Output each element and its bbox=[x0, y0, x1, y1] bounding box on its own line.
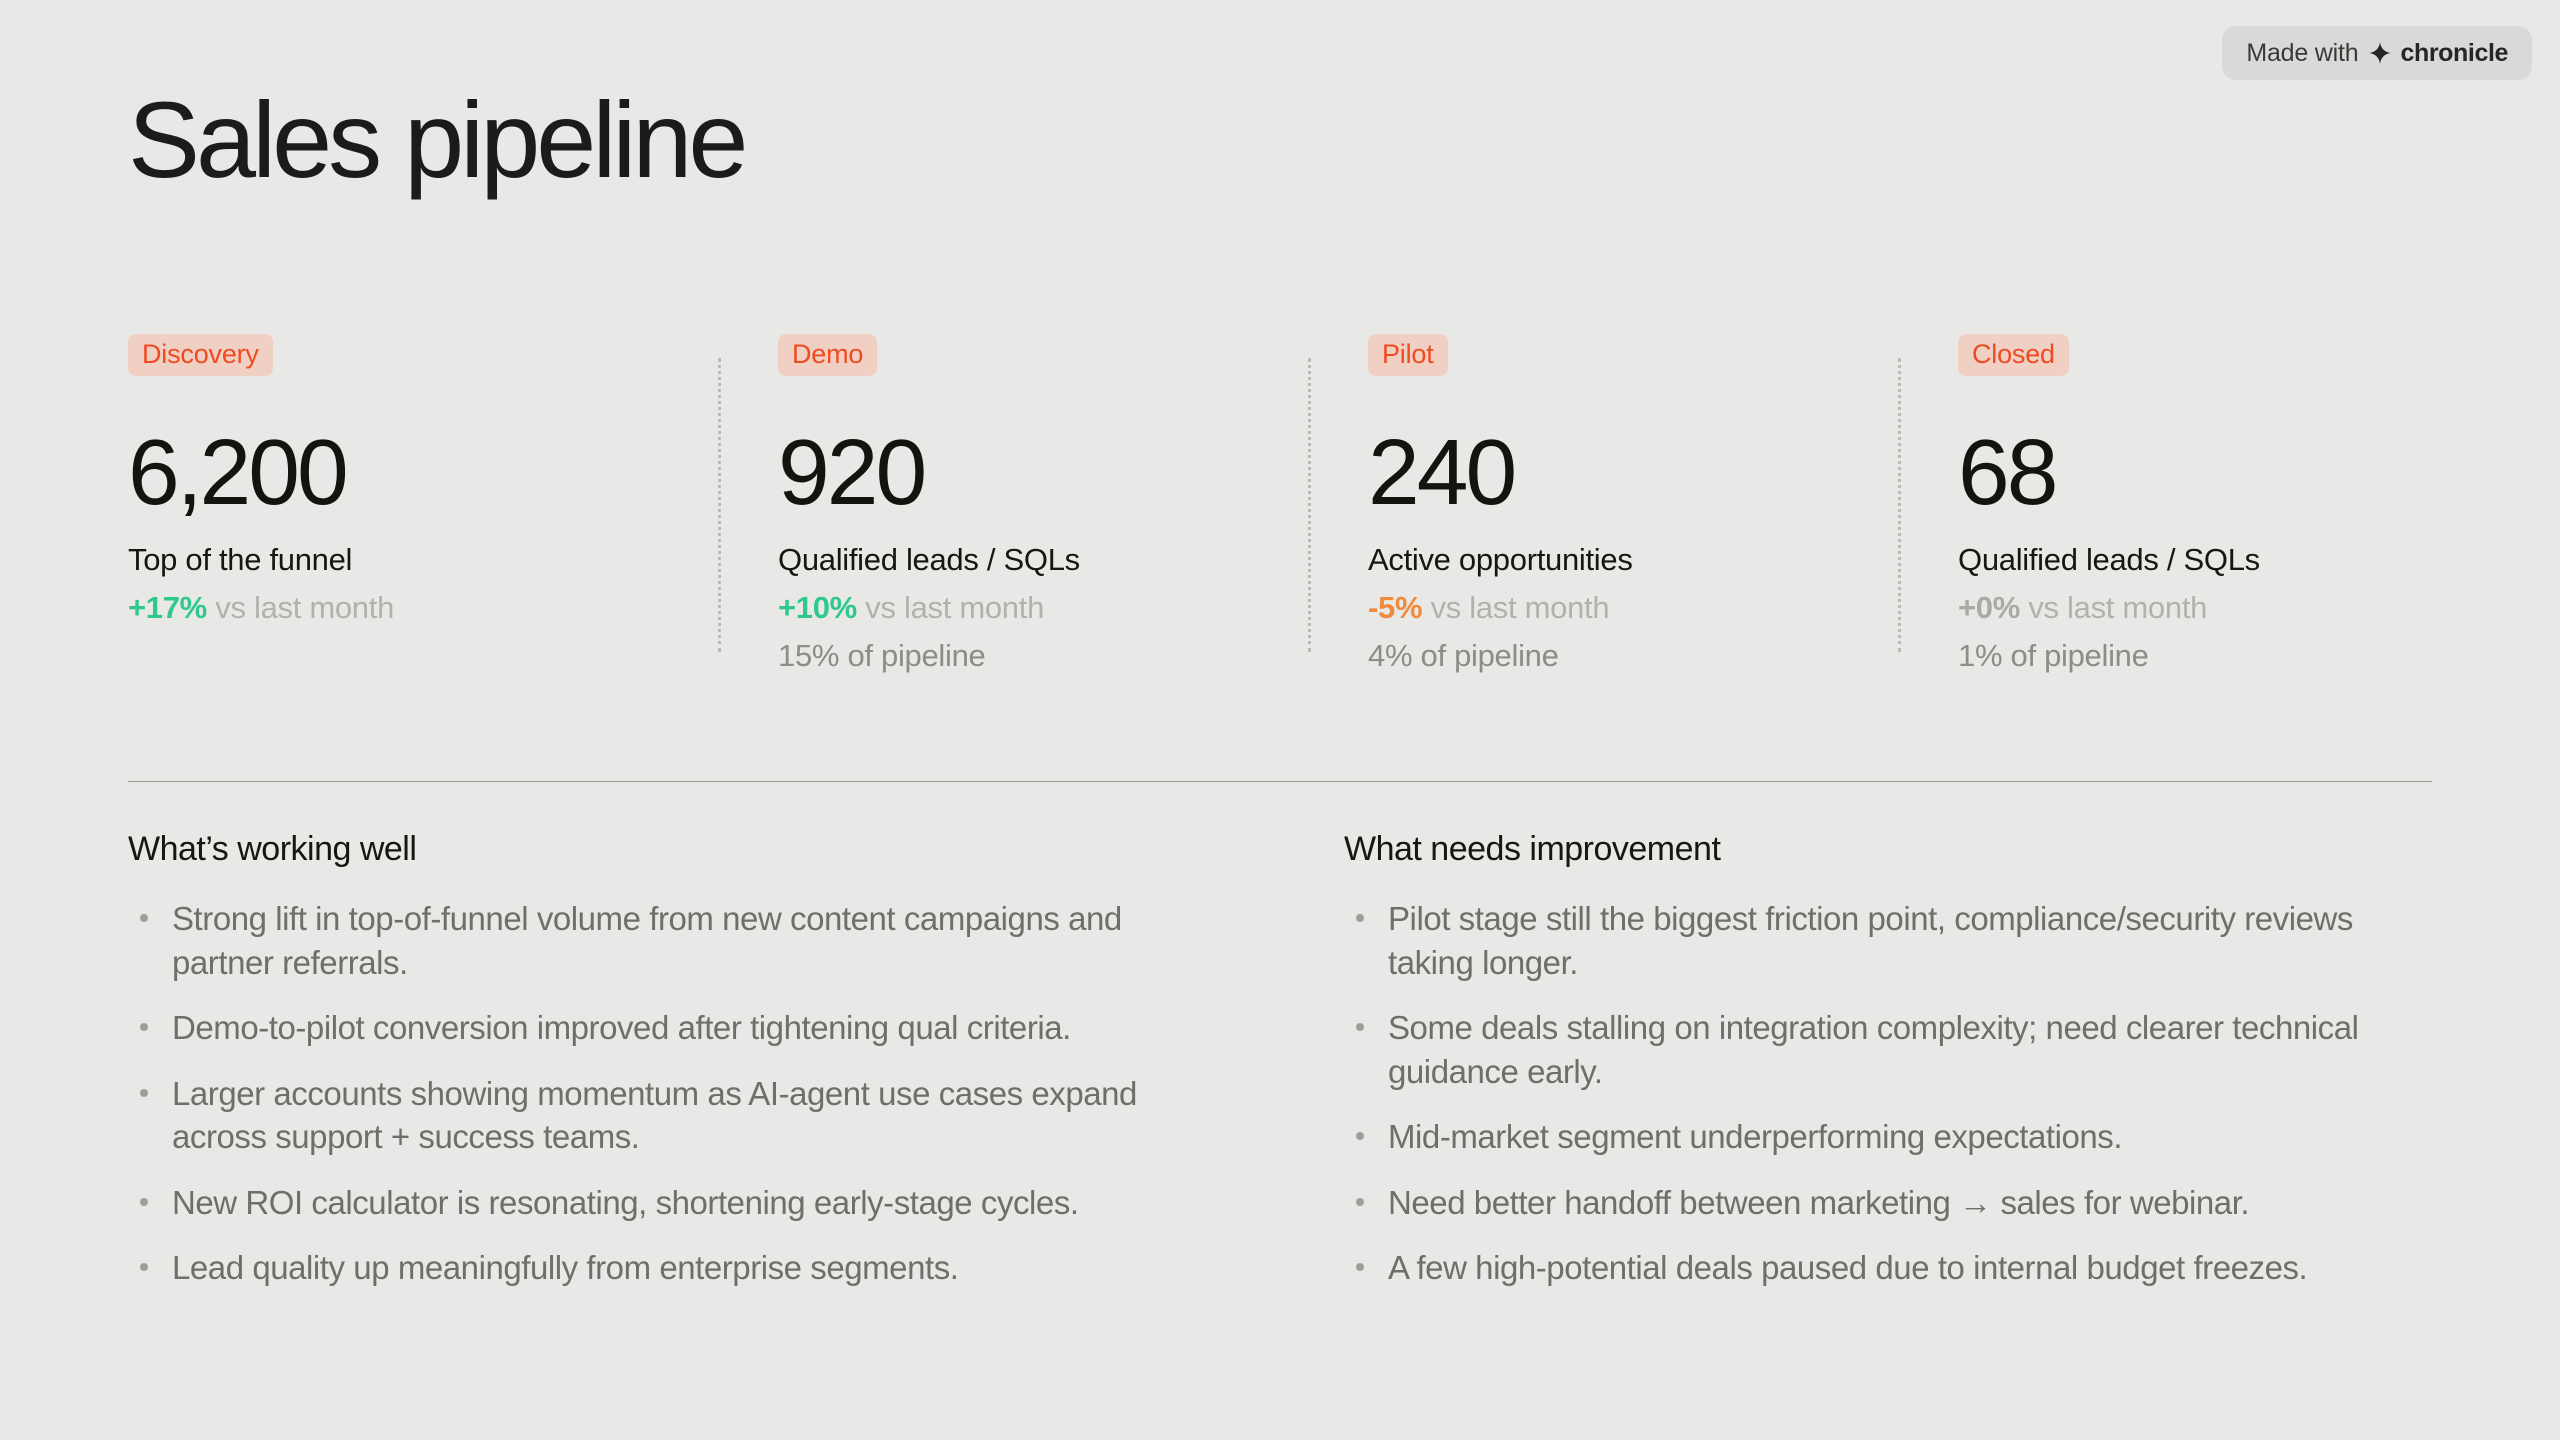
metric-value: 6,200 bbox=[128, 426, 678, 519]
metrics-row: Discovery 6,200 Top of the funnel +17% v… bbox=[128, 334, 2428, 694]
metric-delta-value: +10% bbox=[778, 590, 857, 625]
chronicle-wordmark: chronicle bbox=[2400, 39, 2508, 68]
made-with-label: Made with bbox=[2246, 39, 2358, 68]
metric-card-pilot: Pilot 240 Active opportunities -5% vs la… bbox=[1308, 334, 1898, 694]
list-item: Strong lift in top-of-funnel volume from… bbox=[128, 897, 1188, 984]
metric-delta: -5% vs last month bbox=[1368, 588, 1858, 628]
list-item: New ROI calculator is resonating, shorte… bbox=[128, 1181, 1188, 1225]
bullet-list: Strong lift in top-of-funnel volume from… bbox=[128, 897, 1248, 1290]
list-item: Lead quality up meaningfully from enterp… bbox=[128, 1246, 1188, 1290]
list-item: Need better handoff between marketing → … bbox=[1344, 1181, 2404, 1225]
status-badge: Closed bbox=[1958, 334, 2069, 376]
metric-share: 1% of pipeline bbox=[1958, 636, 2448, 676]
list-item: Larger accounts showing momentum as AI-a… bbox=[128, 1072, 1188, 1159]
sparkle-icon bbox=[2368, 41, 2392, 65]
list-item: Some deals stalling on integration compl… bbox=[1344, 1006, 2404, 1093]
metric-label: Active opportunities bbox=[1368, 541, 1858, 580]
bullet-list: Pilot stage still the biggest friction p… bbox=[1344, 897, 2464, 1290]
section-divider bbox=[128, 781, 2432, 782]
metric-value: 240 bbox=[1368, 426, 1858, 519]
metric-card-closed: Closed 68 Qualified leads / SQLs +0% vs … bbox=[1898, 334, 2488, 694]
list-item: Pilot stage still the biggest friction p… bbox=[1344, 897, 2404, 984]
metric-value: 920 bbox=[778, 426, 1268, 519]
column-working-well: What’s working well Strong lift in top-o… bbox=[128, 830, 1248, 1312]
metric-delta-suffix: vs last month bbox=[2028, 590, 2207, 625]
made-with-chronicle-badge[interactable]: Made with chronicle bbox=[2222, 26, 2532, 80]
metric-label: Top of the funnel bbox=[128, 541, 678, 580]
metric-delta: +17% vs last month bbox=[128, 588, 678, 628]
metric-share: 4% of pipeline bbox=[1368, 636, 1858, 676]
status-badge: Discovery bbox=[128, 334, 273, 376]
list-item: A few high-potential deals paused due to… bbox=[1344, 1246, 2404, 1290]
status-badge: Demo bbox=[778, 334, 877, 376]
metric-label: Qualified leads / SQLs bbox=[1958, 541, 2448, 580]
metric-delta: +10% vs last month bbox=[778, 588, 1268, 628]
metric-delta-value: -5% bbox=[1368, 590, 1422, 625]
list-item: Mid-market segment underperforming expec… bbox=[1344, 1115, 2404, 1159]
column-needs-improvement: What needs improvement Pilot stage still… bbox=[1344, 830, 2464, 1312]
metric-value: 68 bbox=[1958, 426, 2448, 519]
column-title: What needs improvement bbox=[1344, 830, 2464, 869]
metric-share: 15% of pipeline bbox=[778, 636, 1268, 676]
list-item: Demo-to-pilot conversion improved after … bbox=[128, 1006, 1188, 1050]
column-title: What’s working well bbox=[128, 830, 1248, 869]
metric-label: Qualified leads / SQLs bbox=[778, 541, 1268, 580]
metric-card-discovery: Discovery 6,200 Top of the funnel +17% v… bbox=[128, 334, 718, 694]
page-title: Sales pipeline bbox=[128, 86, 744, 194]
metric-delta: +0% vs last month bbox=[1958, 588, 2448, 628]
insights-columns: What’s working well Strong lift in top-o… bbox=[128, 830, 2432, 1312]
metric-delta-suffix: vs last month bbox=[865, 590, 1044, 625]
metric-delta-suffix: vs last month bbox=[215, 590, 394, 625]
metric-delta-suffix: vs last month bbox=[1431, 590, 1610, 625]
metric-delta-value: +0% bbox=[1958, 590, 2020, 625]
status-badge: Pilot bbox=[1368, 334, 1448, 376]
metric-delta-value: +17% bbox=[128, 590, 207, 625]
slide-root: Made with chronicle Sales pipeline Disco… bbox=[0, 0, 2560, 1440]
metric-card-demo: Demo 920 Qualified leads / SQLs +10% vs … bbox=[718, 334, 1308, 694]
